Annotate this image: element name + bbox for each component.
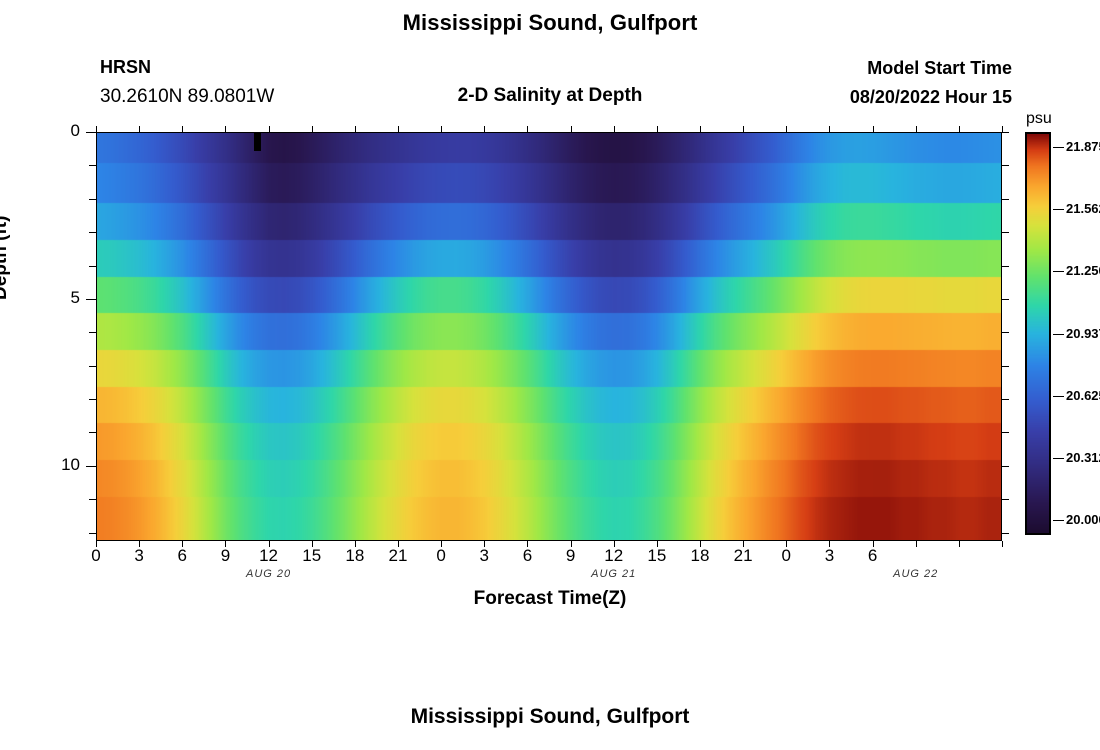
x-axis-tick-top	[829, 126, 830, 132]
x-axis-tick-top	[657, 126, 658, 132]
y-axis-tick-right	[1002, 232, 1009, 233]
y-axis-tick	[86, 299, 96, 300]
x-axis-tick-top	[527, 126, 528, 132]
x-axis-tick-top	[786, 126, 787, 132]
y-axis-tick-right	[1002, 332, 1009, 333]
colorbar-tick	[1053, 334, 1064, 335]
x-axis-tick-top	[269, 126, 270, 132]
y-axis-tick	[89, 165, 96, 166]
x-axis-tick-top	[484, 126, 485, 132]
y-axis-tick-right	[1002, 533, 1009, 534]
x-axis-tick-top	[225, 126, 226, 132]
y-axis-tick-label: 0	[40, 121, 80, 141]
x-axis-tick-top	[959, 126, 960, 132]
y-axis-tick-right	[1002, 132, 1009, 133]
x-axis-tick	[916, 541, 917, 547]
model-start-value: 08/20/2022 Hour 15	[850, 87, 1012, 108]
x-axis-tick-top	[355, 126, 356, 132]
x-axis-tick-top	[398, 126, 399, 132]
colorbar-tick	[1053, 209, 1064, 210]
x-axis-tick-top	[139, 126, 140, 132]
y-axis-tick-right	[1002, 266, 1009, 267]
model-start-label: Model Start Time	[867, 58, 1012, 79]
y-axis-tick	[89, 432, 96, 433]
y-axis-tick	[89, 199, 96, 200]
x-axis-tick-top	[96, 126, 97, 132]
y-axis-tick-right	[1002, 466, 1009, 467]
colorbar-tick-label: 20.0000	[1066, 512, 1100, 527]
page-title: Mississippi Sound, Gulfport	[0, 10, 1100, 36]
colorbar-tick-label: 20.3125	[1066, 450, 1100, 465]
plot-frame	[96, 132, 1002, 541]
y-axis-tick-right	[1002, 366, 1009, 367]
y-axis-tick	[89, 232, 96, 233]
colorbar-tick-label: 21.8750	[1066, 139, 1100, 154]
x-axis-tick-top	[873, 126, 874, 132]
y-axis-tick	[89, 399, 96, 400]
x-axis-tick-top	[182, 126, 183, 132]
salinity-heatmap-canvas	[97, 133, 1002, 541]
x-axis-date-label: AUG 22	[861, 568, 971, 580]
y-axis-tick-right	[1002, 432, 1009, 433]
x-axis-tick-top	[614, 126, 615, 132]
colorbar-tick	[1053, 396, 1064, 397]
heatmap-plot-area	[96, 132, 1002, 541]
x-axis-tick-top	[571, 126, 572, 132]
y-axis-tick-label: 10	[40, 455, 80, 475]
x-axis-tick-top	[743, 126, 744, 132]
x-axis-tick	[1002, 541, 1003, 547]
x-axis-date-label: AUG 21	[559, 568, 669, 580]
station-id: HRSN	[100, 57, 151, 78]
y-axis-tick	[89, 366, 96, 367]
y-axis-title: Depth (ft)	[0, 216, 12, 300]
colorbar-tick	[1053, 458, 1064, 459]
y-axis-tick	[89, 332, 96, 333]
colorbar-tick	[1053, 271, 1064, 272]
x-axis-tick-top	[700, 126, 701, 132]
colorbar-tick	[1053, 147, 1064, 148]
y-axis-tick-right	[1002, 399, 1009, 400]
x-axis-title: Forecast Time(Z)	[0, 588, 1100, 610]
colorbar	[1025, 132, 1051, 535]
x-axis-tick-top	[312, 126, 313, 132]
colorbar-tick-label: 20.6250	[1066, 388, 1100, 403]
y-axis-tick-right	[1002, 165, 1009, 166]
footer-title: Mississippi Sound, Gulfport	[0, 705, 1100, 729]
y-axis-tick-right	[1002, 499, 1009, 500]
colorbar-unit-label: psu	[1026, 110, 1052, 128]
salinity-chart-page: Mississippi Sound, Gulfport HRSN 30.2610…	[0, 0, 1100, 750]
y-axis-tick	[89, 499, 96, 500]
y-axis-tick-label: 5	[40, 288, 80, 308]
y-axis-tick	[86, 466, 96, 467]
x-axis-date-label: AUG 20	[214, 568, 324, 580]
colorbar-tick	[1053, 520, 1064, 521]
y-axis-tick-right	[1002, 299, 1009, 300]
colorbar-tick-label: 20.9375	[1066, 326, 1100, 341]
x-axis-tick-top	[441, 126, 442, 132]
y-axis-tick	[89, 266, 96, 267]
x-axis-tick-top	[916, 126, 917, 132]
colorbar-tick-label: 21.2500	[1066, 263, 1100, 278]
colorbar-gradient	[1025, 132, 1051, 535]
x-axis-tick	[959, 541, 960, 547]
current-time-marker	[254, 132, 261, 151]
y-axis-tick	[86, 132, 96, 133]
y-axis-tick	[89, 533, 96, 534]
y-axis-tick-right	[1002, 199, 1009, 200]
colorbar-tick-label: 21.5625	[1066, 201, 1100, 216]
x-axis-tick-label: 6	[843, 546, 903, 566]
